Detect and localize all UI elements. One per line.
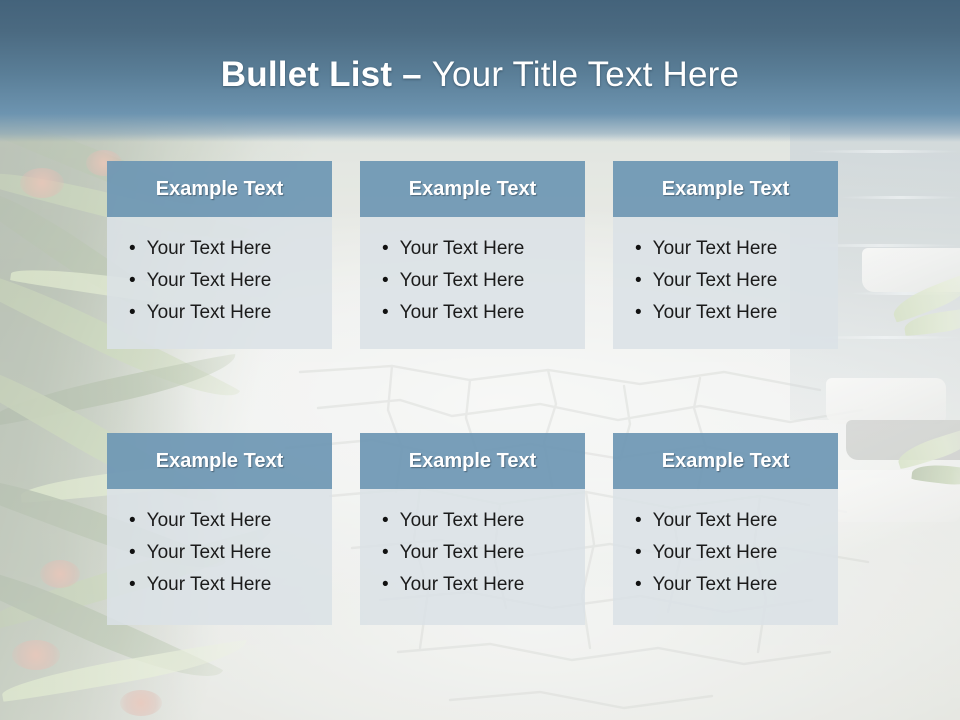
list-item[interactable]: • Your Text Here [382, 569, 575, 601]
list-item-label: Your Text Here [147, 271, 272, 290]
bullet-card-2-header: Example Text [360, 161, 585, 217]
list-item-label: Your Text Here [400, 239, 525, 258]
bullet-card-5[interactable]: Example Text • Your Text Here • Your Tex… [360, 433, 585, 625]
bullet-dot-icon: • [635, 303, 642, 322]
bullet-dot-icon: • [382, 239, 389, 258]
bullet-card-4-list: • Your Text Here • Your Text Here • Your… [129, 505, 322, 601]
list-item[interactable]: • Your Text Here [129, 537, 322, 569]
bullet-dot-icon: • [382, 575, 389, 594]
list-item-label: Your Text Here [400, 543, 525, 562]
list-item-label: Your Text Here [653, 239, 778, 258]
bullet-card-1-header-label: Example Text [156, 178, 283, 201]
bullet-card-2-body: • Your Text Here • Your Text Here • Your… [360, 217, 585, 349]
bullet-card-1-header: Example Text [107, 161, 332, 217]
bullet-card-3-body: • Your Text Here • Your Text Here • Your… [613, 217, 838, 349]
bullet-card-3[interactable]: Example Text • Your Text Here • Your Tex… [613, 161, 838, 349]
list-item-label: Your Text Here [400, 511, 525, 530]
list-item-label: Your Text Here [147, 303, 272, 322]
list-item[interactable]: • Your Text Here [129, 265, 322, 297]
bullet-card-5-list: • Your Text Here • Your Text Here • Your… [382, 505, 575, 601]
list-item[interactable]: • Your Text Here [129, 505, 322, 537]
bullet-dot-icon: • [635, 511, 642, 530]
list-item-label: Your Text Here [653, 511, 778, 530]
list-item-label: Your Text Here [653, 271, 778, 290]
bullet-card-6[interactable]: Example Text • Your Text Here • Your Tex… [613, 433, 838, 625]
list-item[interactable]: • Your Text Here [635, 537, 828, 569]
bullet-card-4-header: Example Text [107, 433, 332, 489]
list-item[interactable]: • Your Text Here [635, 297, 828, 329]
list-item[interactable]: • Your Text Here [635, 505, 828, 537]
bullet-card-6-body: • Your Text Here • Your Text Here • Your… [613, 489, 838, 625]
bullet-card-5-header-label: Example Text [409, 450, 536, 473]
bullet-dot-icon: • [129, 303, 136, 322]
list-item[interactable]: • Your Text Here [382, 233, 575, 265]
list-item[interactable]: • Your Text Here [635, 265, 828, 297]
list-item[interactable]: • Your Text Here [129, 569, 322, 601]
page-title-bold: Bullet List – [221, 55, 432, 94]
bullet-dot-icon: • [382, 543, 389, 562]
list-item-label: Your Text Here [653, 543, 778, 562]
list-item[interactable]: • Your Text Here [635, 569, 828, 601]
list-item[interactable]: • Your Text Here [635, 233, 828, 265]
bullet-card-4-body: • Your Text Here • Your Text Here • Your… [107, 489, 332, 625]
bullet-dot-icon: • [129, 511, 136, 530]
bullet-card-3-list: • Your Text Here • Your Text Here • Your… [635, 233, 828, 329]
bullet-card-4[interactable]: Example Text • Your Text Here • Your Tex… [107, 433, 332, 625]
list-item[interactable]: • Your Text Here [129, 233, 322, 265]
list-item[interactable]: • Your Text Here [382, 505, 575, 537]
bullet-dot-icon: • [635, 239, 642, 258]
list-item[interactable]: • Your Text Here [382, 265, 575, 297]
bullet-card-3-header: Example Text [613, 161, 838, 217]
list-item-label: Your Text Here [400, 303, 525, 322]
bullet-card-1-list: • Your Text Here • Your Text Here • Your… [129, 233, 322, 329]
bullet-card-2-list: • Your Text Here • Your Text Here • Your… [382, 233, 575, 329]
list-item-label: Your Text Here [400, 271, 525, 290]
bullet-card-2-header-label: Example Text [409, 178, 536, 201]
list-item-label: Your Text Here [653, 303, 778, 322]
page-title-light: Your Title Text Here [432, 55, 740, 94]
slide-canvas: Bullet List – Your Title Text Here Examp… [0, 0, 960, 720]
bullet-card-grid: Example Text • Your Text Here • Your Tex… [107, 161, 838, 625]
title-banner: Bullet List – Your Title Text Here [0, 0, 960, 142]
list-item-label: Your Text Here [147, 239, 272, 258]
list-item-label: Your Text Here [653, 575, 778, 594]
page-title: Bullet List – Your Title Text Here [221, 55, 739, 95]
bullet-card-2[interactable]: Example Text • Your Text Here • Your Tex… [360, 161, 585, 349]
bullet-card-1-body: • Your Text Here • Your Text Here • Your… [107, 217, 332, 349]
bullet-card-5-body: • Your Text Here • Your Text Here • Your… [360, 489, 585, 625]
bullet-dot-icon: • [129, 575, 136, 594]
list-item[interactable]: • Your Text Here [382, 537, 575, 569]
list-item-label: Your Text Here [400, 575, 525, 594]
bullet-card-1[interactable]: Example Text • Your Text Here • Your Tex… [107, 161, 332, 349]
bullet-card-6-header-label: Example Text [662, 450, 789, 473]
bullet-dot-icon: • [382, 511, 389, 530]
bullet-card-6-header: Example Text [613, 433, 838, 489]
bullet-card-4-header-label: Example Text [156, 450, 283, 473]
list-item-label: Your Text Here [147, 543, 272, 562]
bullet-dot-icon: • [635, 575, 642, 594]
bullet-card-5-header: Example Text [360, 433, 585, 489]
bullet-dot-icon: • [382, 271, 389, 290]
bullet-dot-icon: • [129, 239, 136, 258]
bullet-dot-icon: • [129, 543, 136, 562]
bullet-card-3-header-label: Example Text [662, 178, 789, 201]
bullet-dot-icon: • [129, 271, 136, 290]
list-item[interactable]: • Your Text Here [129, 297, 322, 329]
list-item[interactable]: • Your Text Here [382, 297, 575, 329]
bullet-card-6-list: • Your Text Here • Your Text Here • Your… [635, 505, 828, 601]
bullet-dot-icon: • [382, 303, 389, 322]
bullet-dot-icon: • [635, 543, 642, 562]
bullet-dot-icon: • [635, 271, 642, 290]
list-item-label: Your Text Here [147, 511, 272, 530]
list-item-label: Your Text Here [147, 575, 272, 594]
